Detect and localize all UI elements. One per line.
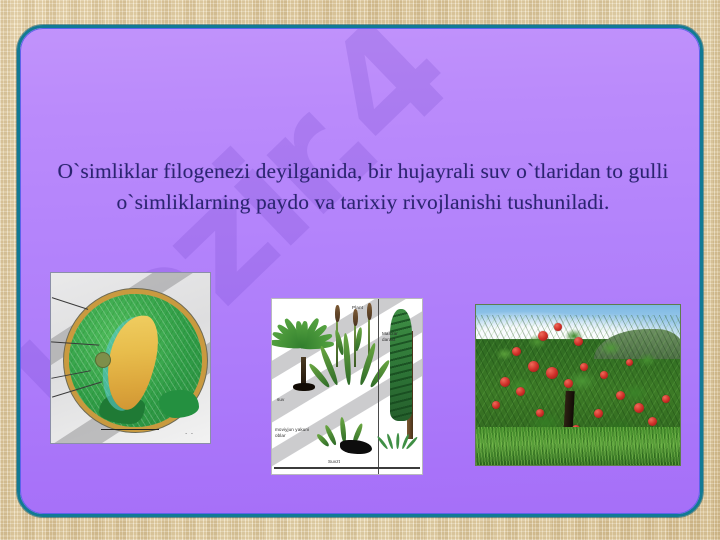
plate-label-algae-group: moviyjun yakuni oblar — [275, 427, 309, 438]
figure-botanical-plate[interactable]: Plant Manzar daraxt suv moviyjun yakuni … — [271, 298, 423, 475]
apple-fruit — [662, 395, 670, 403]
plate-baseline — [274, 467, 420, 469]
slide-panel: hozir.4 O`simliklar filogenezi deyilgani… — [17, 25, 703, 517]
plate-divider — [378, 299, 379, 474]
apple-fruit — [538, 331, 548, 341]
apple-fruit — [616, 391, 625, 400]
slide-body-text: O`simliklar filogenezi deyilganida, bir … — [54, 156, 672, 217]
apple-fruit — [626, 359, 633, 366]
apple-fruit — [594, 409, 603, 418]
apple-fruit — [536, 409, 544, 417]
apple-fruit — [600, 371, 608, 379]
apple-fruit — [554, 323, 562, 331]
apple-fruit — [546, 367, 558, 379]
small-algae-illustration — [324, 417, 372, 455]
conifer-crown — [390, 309, 412, 421]
apple-fruit — [528, 361, 539, 372]
plate-label-suv: suv — [277, 397, 284, 403]
algae-branch — [354, 327, 363, 352]
substrate-rock — [340, 440, 372, 454]
algae-branch — [342, 333, 352, 385]
scale-bar — [101, 429, 159, 431]
green-algae-illustration — [324, 327, 380, 393]
conifer-illustration — [390, 309, 420, 439]
grass-foreground — [476, 427, 680, 465]
figure-apple-orchard-photo[interactable] — [475, 304, 681, 466]
cell-wall — [64, 289, 207, 432]
apple-fruit — [516, 387, 525, 396]
apple-fruit — [492, 401, 500, 409]
plate-label-plant: Plant — [352, 305, 363, 311]
cattail-head — [335, 305, 340, 322]
chloroplast-lobe — [159, 390, 199, 418]
shrub-illustration — [384, 427, 410, 449]
plate-label-manzar: Manzar daraxt — [382, 331, 398, 342]
cattail-head — [367, 303, 372, 320]
cattail-head — [353, 309, 358, 326]
apple-fruit — [500, 377, 510, 387]
apple-fruit — [648, 417, 657, 426]
apple-fruit — [574, 337, 583, 346]
plate-label-bottom: Suvzt — [328, 459, 340, 465]
figure-algal-cell-diagram[interactable]: . . — [50, 272, 211, 444]
fern-base — [293, 383, 315, 391]
apple-fruit — [564, 379, 573, 388]
apple-fruit — [512, 347, 521, 356]
leader-line — [52, 297, 88, 310]
figure-caption: . . — [185, 429, 194, 436]
apple-fruit — [580, 363, 588, 371]
shrub-blade — [396, 433, 400, 449]
pyrenoid — [95, 352, 111, 368]
apple-fruit — [634, 403, 644, 413]
